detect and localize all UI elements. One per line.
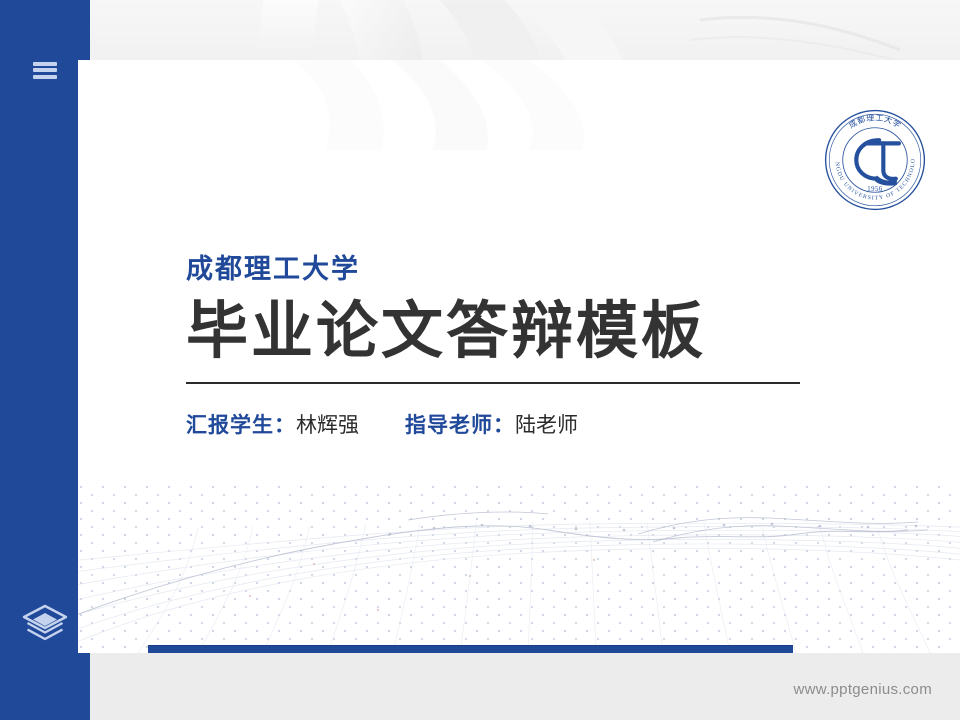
presenter-name: 林辉强: [296, 414, 359, 437]
university-name: 成都理工大学: [186, 253, 826, 285]
slide-viewer: 成都理工大学 CHENGDU UNIVERSITY OF TECHNOLOGY …: [0, 0, 960, 720]
title-text-block: 成都理工大学 毕业论文答辩模板 汇报学生：林辉强指导老师：陆老师: [186, 253, 826, 440]
advisor-label: 指导老师：: [405, 414, 515, 437]
slide-canvas: 成都理工大学 CHENGDU UNIVERSITY OF TECHNOLOGY …: [78, 60, 960, 653]
title-divider: [186, 382, 800, 384]
presenter-label: 汇报学生：: [186, 414, 296, 437]
hamburger-menu-icon[interactable]: [33, 62, 57, 79]
presenter-info-row: 汇报学生：林辉强指导老师：陆老师: [186, 412, 826, 439]
footer-website-url[interactable]: www.pptgenius.com: [794, 681, 933, 698]
layers-button[interactable]: [0, 602, 90, 646]
dot-mesh-wave-decoration: [78, 468, 960, 653]
advisor-name: 陆老师: [515, 414, 578, 437]
menu-button[interactable]: [0, 56, 90, 84]
footer-bar: www.pptgenius.com: [90, 653, 960, 720]
layers-stack-icon[interactable]: [21, 603, 69, 645]
page-title: 毕业论文答辩模板: [186, 299, 826, 366]
svg-text:1956: 1956: [867, 186, 883, 193]
university-logo-icon: 成都理工大学 CHENGDU UNIVERSITY OF TECHNOLOGY …: [823, 108, 927, 212]
left-sidebar: [0, 0, 90, 720]
